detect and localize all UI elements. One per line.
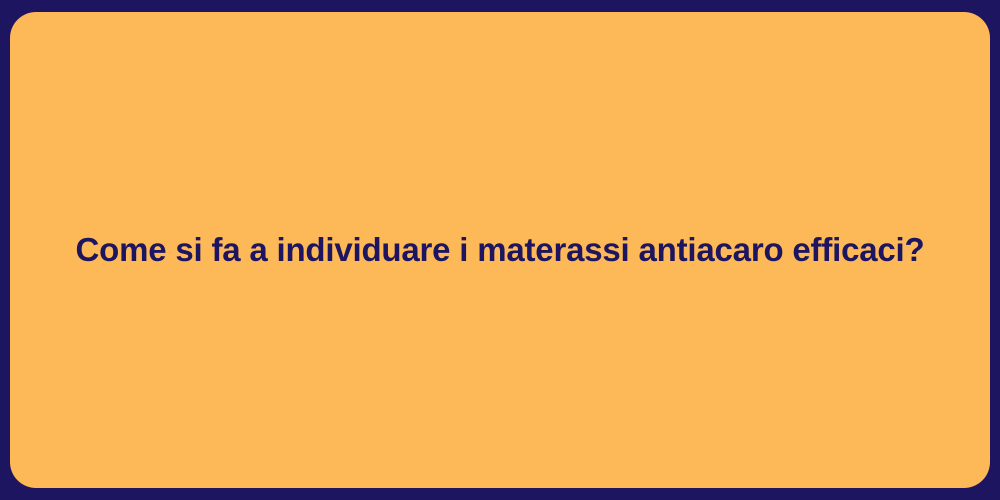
page-background: Come si fa a individuare i materassi ant… bbox=[0, 0, 1000, 500]
question-card: Come si fa a individuare i materassi ant… bbox=[10, 12, 990, 488]
page-title: Come si fa a individuare i materassi ant… bbox=[76, 229, 925, 270]
